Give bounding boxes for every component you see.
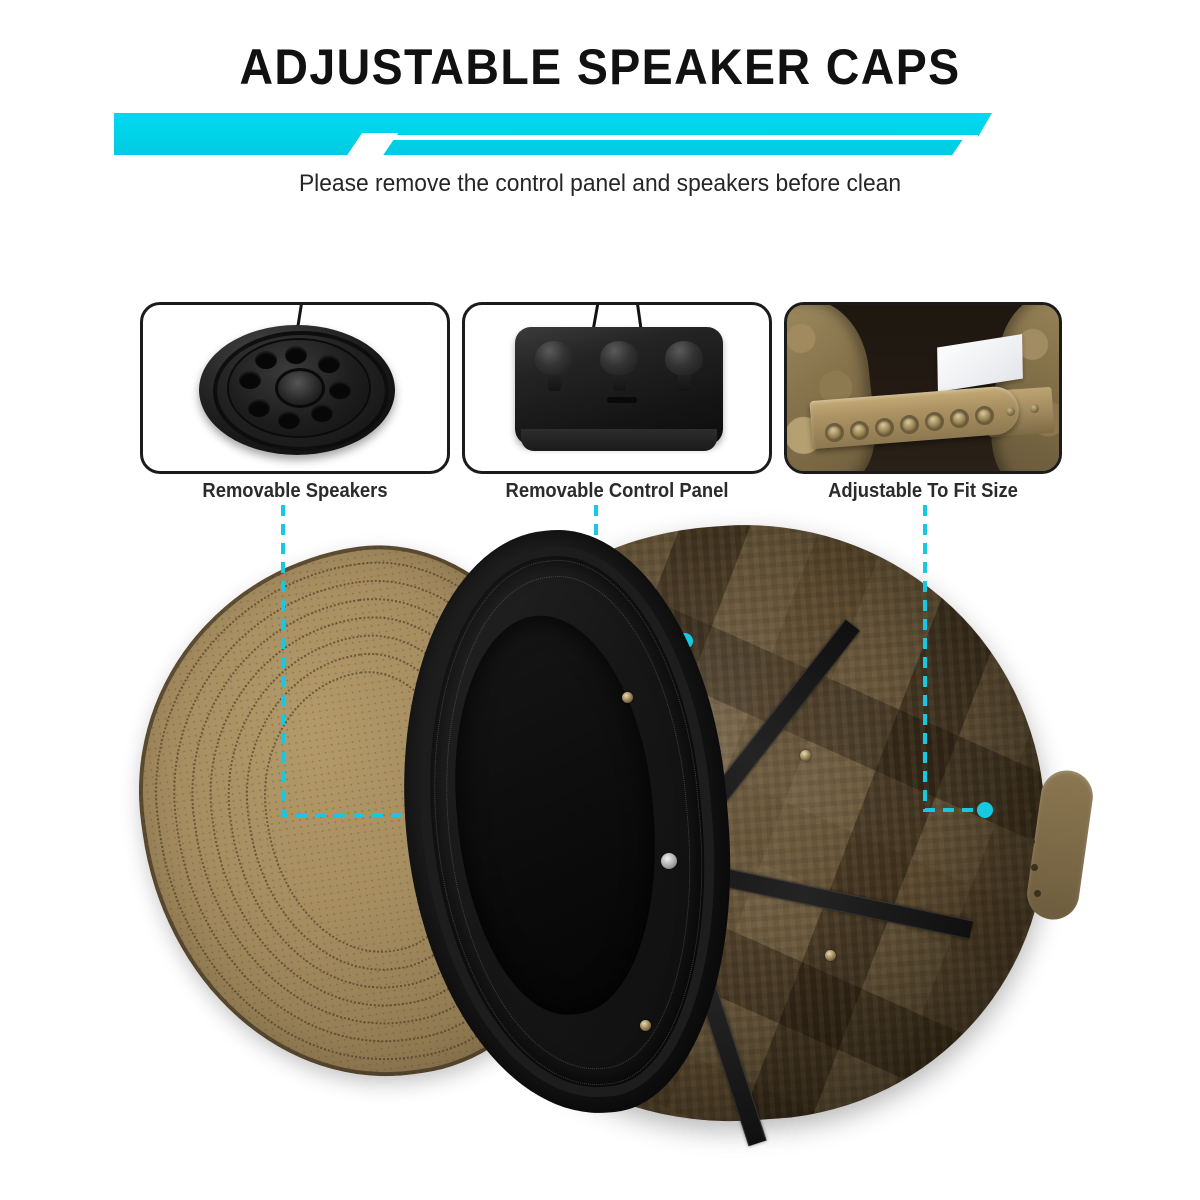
strap-grommet	[925, 412, 944, 431]
cap-strap-hole	[1028, 838, 1035, 845]
cap-eyelet	[825, 950, 836, 961]
infographic-page: ADJUSTABLE SPEAKER CAPS Please remove th…	[0, 0, 1200, 1200]
speaker-hole	[311, 404, 333, 422]
speaker-center-hub	[275, 368, 325, 408]
speaker-hole	[285, 346, 307, 364]
adjustable-strap-icon	[787, 305, 1062, 474]
callout-adjustable-to-fit-size: Adjustable To Fit Size	[784, 302, 1062, 474]
control-panel-button[interactable]	[600, 341, 638, 375]
control-panel-base	[521, 429, 717, 451]
speaker-hole	[329, 381, 351, 399]
accent-band-divider	[378, 135, 978, 140]
cap-eyelet	[800, 750, 811, 761]
callout-frame	[140, 302, 450, 474]
speaker-wire-icon	[296, 302, 304, 327]
accent-band	[0, 105, 1200, 167]
page-title: ADJUSTABLE SPEAKER CAPS	[42, 38, 1158, 96]
strap-grommet	[825, 423, 844, 442]
accent-band-main	[114, 113, 992, 155]
cap-eyelet	[622, 692, 633, 703]
strap-grommet	[975, 406, 994, 425]
product-photo	[120, 520, 1080, 1130]
strap-rivet	[1030, 404, 1039, 413]
speaker-hole	[278, 411, 300, 429]
callout-removable-speakers: Removable Speakers	[140, 302, 450, 474]
callout-label-adjustable-to-fit-size: Adjustable To Fit Size	[795, 480, 1051, 503]
cap-strap-hole	[1025, 812, 1032, 819]
callout-label-removable-speakers: Removable Speakers	[152, 480, 437, 503]
speaker-hole	[318, 355, 340, 373]
strap-grommet	[875, 418, 894, 437]
strap-grommet	[950, 409, 969, 428]
control-panel-button[interactable]	[665, 341, 703, 375]
subtitle-text: Please remove the control panel and spea…	[30, 170, 955, 198]
strap-grommet	[900, 415, 919, 434]
control-panel-button[interactable]	[535, 341, 573, 375]
cap-eyelet	[640, 1020, 651, 1031]
callout-removable-control-panel: Removable Control Panel	[462, 302, 772, 474]
callout-frame	[784, 302, 1062, 474]
cap-center-button	[661, 853, 677, 869]
cap-strap-hole	[1034, 890, 1041, 897]
strap-grommet	[850, 421, 869, 440]
speaker-hole	[255, 351, 277, 369]
subtitle-clip: Please remove the control panel and spea…	[0, 170, 955, 204]
speaker-hole	[248, 399, 270, 417]
callout-label-removable-control-panel: Removable Control Panel	[474, 480, 759, 503]
control-panel-slot	[607, 397, 637, 403]
callout-frame	[462, 302, 772, 474]
strap-rivet	[1006, 407, 1015, 416]
cap-strap-hole	[1031, 864, 1038, 871]
speaker-hole	[239, 371, 261, 389]
